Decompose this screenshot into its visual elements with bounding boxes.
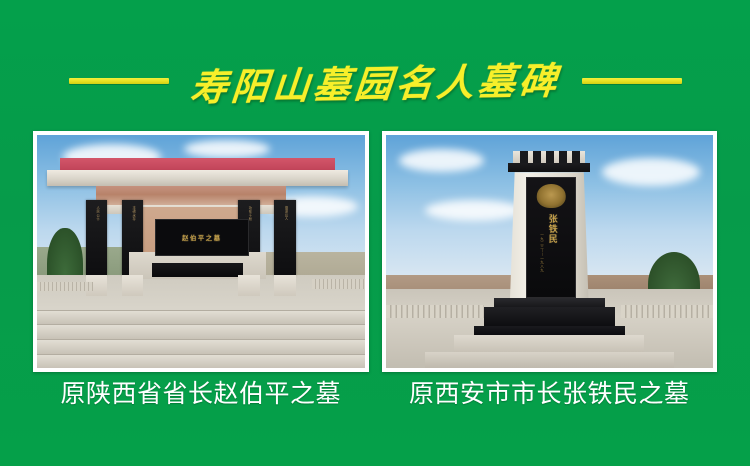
caption-right: 原西安市市长张铁民之墓	[382, 376, 718, 412]
monument-plinth	[454, 335, 644, 351]
stair-step	[37, 310, 365, 325]
monument-base	[494, 298, 605, 307]
monument-crenellation	[572, 151, 580, 163]
left-rule-decoration	[69, 78, 169, 84]
pillar-inscription: 丰碑永存	[131, 206, 135, 221]
monument-base	[484, 307, 615, 326]
pillar-inscription: 人民公仆	[95, 206, 99, 221]
stair-step	[425, 352, 674, 368]
poster-background: 寿阳山墓园名人墓碑 人民公仆	[0, 0, 750, 466]
poster-header: 寿阳山墓园名人墓碑	[0, 50, 750, 112]
stone-railing	[37, 282, 93, 291]
photo-gallery: 人民公仆 丰碑永存 功在千秋 德泽后人 赵伯平之墓	[33, 131, 717, 372]
zhang-tiemin-tomb-photo: 张铁民 一九二三——一九八九	[386, 135, 714, 368]
tablet-inscription: 赵伯平之墓	[182, 232, 222, 242]
photo-frame-left[interactable]: 人民公仆 丰碑永存 功在千秋 德泽后人 赵伯平之墓	[33, 131, 369, 372]
pillar-base	[274, 275, 295, 296]
pillar-base	[238, 275, 259, 296]
stair-step	[37, 339, 365, 355]
stone-railing	[312, 279, 364, 288]
monument-crenellation	[533, 151, 541, 163]
pavilion-roof-slab	[47, 170, 348, 186]
monument-dates-inscription: 一九二三——一九八九	[540, 233, 544, 272]
right-rule-decoration	[582, 78, 682, 84]
monument-base	[474, 326, 625, 335]
tomb-altar	[152, 263, 244, 277]
pavilion-pillar: 德泽后人	[274, 200, 295, 275]
monument-collar	[508, 163, 590, 172]
cloud-icon	[399, 149, 484, 172]
cloud-icon	[184, 140, 269, 159]
zhao-boping-tomb-photo: 人民公仆 丰碑永存 功在千秋 德泽后人 赵伯平之墓	[37, 135, 365, 368]
portrait-relief	[537, 184, 565, 208]
cloud-icon	[602, 158, 700, 186]
monument-name-inscription: 张铁民	[546, 214, 555, 244]
page-title: 寿阳山墓园名人墓碑	[188, 50, 562, 111]
monument-crenellation	[546, 151, 554, 163]
stone-railing	[386, 305, 484, 318]
pavilion-pillar: 人民公仆	[86, 200, 107, 275]
stair-step	[37, 354, 365, 368]
monument-crenellation	[520, 151, 528, 163]
monument-crenellation	[559, 151, 567, 163]
pillar-inscription: 德泽后人	[283, 206, 287, 221]
tomb-tablet: 赵伯平之墓	[155, 219, 249, 256]
stone-railing	[621, 305, 713, 318]
caption-left: 原陕西省省长赵伯平之墓	[33, 376, 369, 412]
pillar-base	[122, 275, 143, 296]
stair-step	[37, 324, 365, 340]
photo-frame-right[interactable]: 张铁民 一九二三——一九八九	[382, 131, 718, 372]
caption-row: 原陕西省省长赵伯平之墓 原西安市市长张铁民之墓	[33, 376, 717, 412]
monument-panel: 张铁民 一九二三——一九八九	[526, 177, 575, 298]
